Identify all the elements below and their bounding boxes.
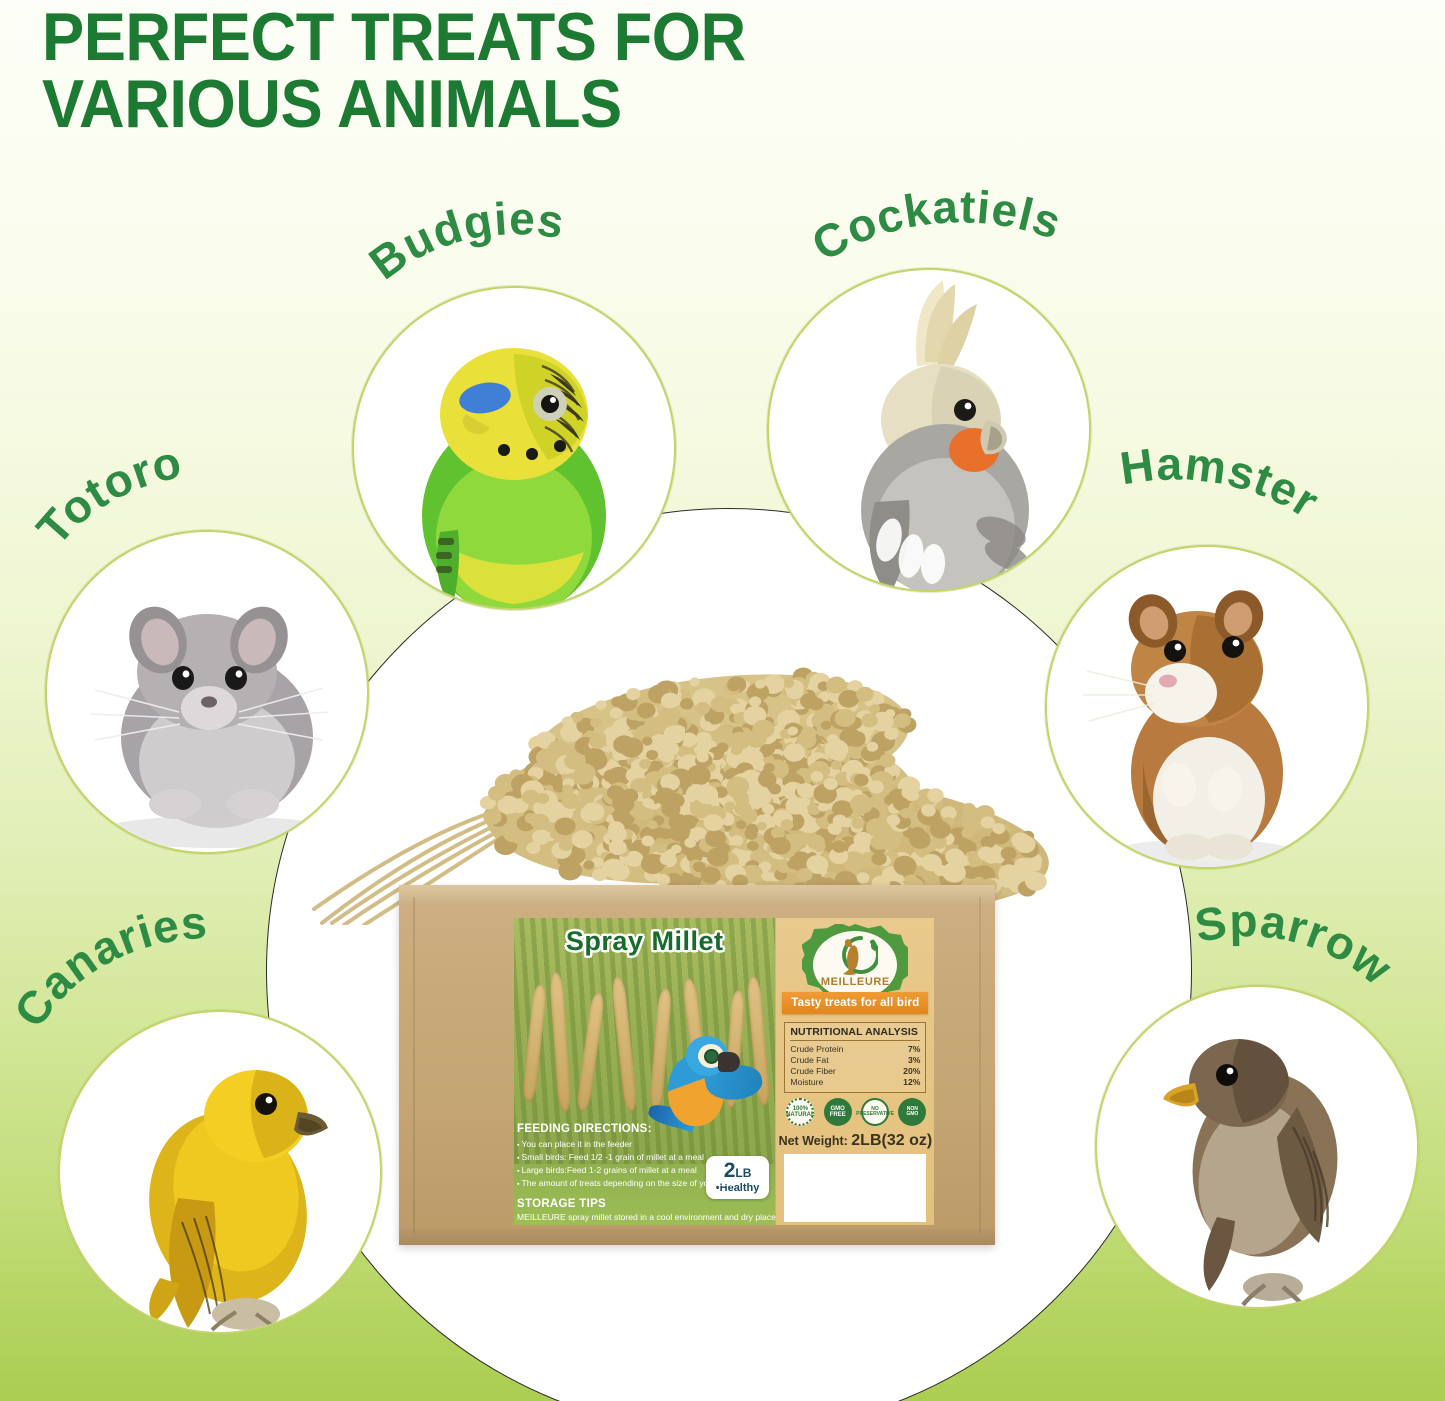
feeding-item: Small birds: Feed 1/2 -1 grain of millet…: [517, 1151, 857, 1164]
infographic-canvas: PERFECT TREATS FOR VARIOUS ANIMALS: [0, 0, 1445, 1401]
feeding-title: FEEDING DIRECTIONS:: [517, 1123, 857, 1135]
nutrition-table: NUTRITIONAL ANALYSIS Crude Protein7%Crud…: [784, 1022, 926, 1093]
product-title: Spray Millet: [514, 926, 775, 957]
animal-circle-cockatiel[interactable]: [767, 268, 1091, 592]
natural-seal-icon: 100%NATURAL: [786, 1098, 814, 1126]
feeding-items: You can place it in the feederSmall bird…: [517, 1138, 857, 1190]
storage-title: STORAGE TIPS: [517, 1198, 857, 1210]
storage-text: MEILLEURE spray millet stored in a cool …: [517, 1212, 857, 1222]
hamster-label-text: Hamster: [1117, 437, 1329, 527]
gmo-free-icon: GMOFREE: [824, 1098, 852, 1126]
nutrition-heading: NUTRITIONAL ANALYSIS: [790, 1026, 920, 1041]
non-gmo-leaf-icon: NONGMO: [898, 1098, 926, 1126]
nutrition-name: Crude Fiber: [790, 1065, 888, 1076]
product-box[interactable]: Spray Millet 2LB •Healthy: [399, 885, 995, 1245]
box-left-seam: [413, 897, 415, 1233]
feeding-directions-block: FEEDING DIRECTIONS: You can place it in …: [517, 1123, 857, 1227]
feeding-item: Large birds:Feed 1-2 grains of millet at…: [517, 1164, 857, 1177]
page-title: PERFECT TREATS FOR VARIOUS ANIMALS: [42, 4, 935, 137]
brand-tagline: Tasty treats for all bird: [791, 997, 919, 1009]
brand-tagline-ribbon: Tasty treats for all bird: [782, 992, 928, 1014]
nutrition-row: Moisture12%: [790, 1077, 920, 1088]
nutrition-name: Crude Protein: [790, 1043, 888, 1054]
animal-circle-hamster[interactable]: [1045, 545, 1369, 869]
feeding-item: The amount of treats depending on the si…: [517, 1177, 857, 1190]
certification-badges: 100%NATURALGMOFREENOPRESERVATIVENONGMO: [786, 1098, 926, 1126]
canary-photo: [60, 1012, 380, 1332]
dog-and-leaf-circle-logo-icon: [832, 936, 878, 980]
nutrition-name: Crude Fat: [790, 1054, 888, 1065]
hamster-photo: [1047, 547, 1367, 867]
cockatiel-label-text: Cockatiels: [803, 180, 1068, 271]
nutrition-row: Crude Protein7%: [790, 1043, 920, 1054]
animal-circle-canary[interactable]: [58, 1010, 382, 1334]
feeding-item: You can place it in the feeder: [517, 1138, 857, 1151]
brand-name: MEILLEURE: [802, 976, 908, 988]
animal-circle-sparrow[interactable]: [1095, 985, 1419, 1309]
budgie-label-text: Budgies: [359, 192, 568, 289]
nutrition-value: 20%: [889, 1065, 921, 1076]
cockatiel-photo: [769, 270, 1089, 590]
nutrition-value: 12%: [889, 1077, 921, 1088]
nutrition-name: Moisture: [790, 1077, 888, 1088]
box-top-edge: [399, 885, 995, 905]
nutrition-value: 7%: [889, 1043, 921, 1054]
sparrow-label-text: Sparrow: [1191, 894, 1403, 995]
nutrition-value: 3%: [889, 1054, 921, 1065]
net-weight-value: 2LB(32 oz): [851, 1132, 932, 1149]
no-preservative-icon: NOPRESERVATIVE: [861, 1098, 889, 1126]
nutrition-row: Crude Fiber20%: [790, 1065, 920, 1076]
box-right-seam: [979, 897, 981, 1233]
animal-circle-budgie[interactable]: [352, 286, 676, 610]
budgie-photo: [354, 288, 674, 608]
nutrition-row: Crude Fat3%: [790, 1054, 920, 1065]
box-bottom-edge: [399, 1229, 995, 1245]
nutrition-rows: Crude Protein7%Crude Fat3%Crude Fiber20%…: [790, 1043, 920, 1088]
sparrow-photo: [1097, 987, 1417, 1307]
